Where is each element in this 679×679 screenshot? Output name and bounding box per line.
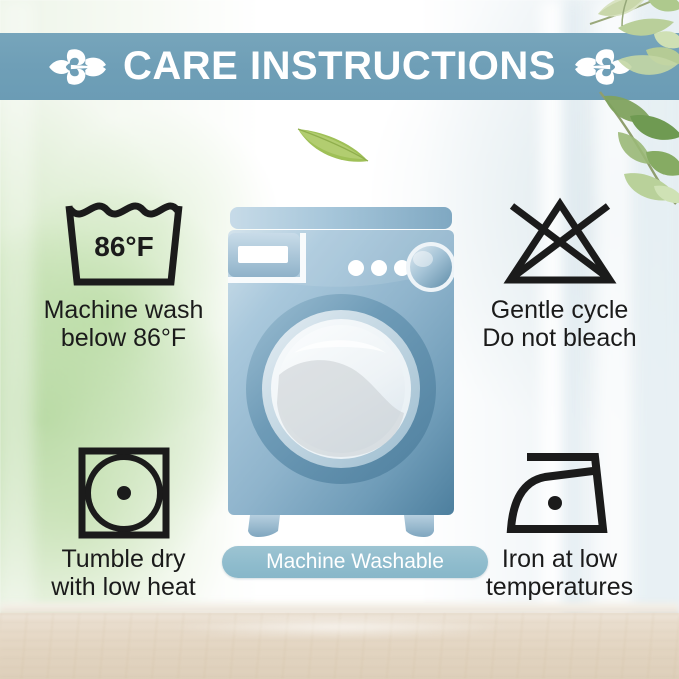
washer-top-panel (230, 207, 452, 229)
triangle-crossed-out-icon-wrap (452, 196, 667, 292)
triangle-crossed-out-icon (502, 196, 618, 292)
wash-tub-temperature-label: 86°F (94, 231, 153, 262)
fleur-de-lis-left-icon (45, 42, 107, 92)
care-instructions-infographic: CARE INSTRUCTIONS (0, 0, 679, 679)
control-knob-highlight (413, 251, 433, 267)
tumble-dry-heat-dot (117, 486, 131, 500)
wash-tub-icon: 86°F (61, 196, 187, 292)
control-knob (410, 246, 452, 288)
care-symbol-machine-wash: 86°F Machine wash below 86°F (16, 196, 231, 352)
floating-leaf-icon (294, 121, 372, 165)
iron-heat-dot (548, 496, 562, 510)
header-banner: CARE INSTRUCTIONS (0, 33, 679, 100)
care-symbol-no-bleach-label: Gentle cycle Do not bleach (452, 296, 667, 352)
washing-machine-illustration (228, 207, 454, 537)
iron-icon-wrap (452, 445, 667, 541)
tumble-dry-square-icon-wrap (16, 445, 231, 541)
washer-foot-right (404, 515, 434, 537)
washer-foot-left (248, 515, 280, 537)
indicator-light-1 (348, 260, 364, 276)
table-highlight (163, 617, 516, 637)
page-title: CARE INSTRUCTIONS (123, 44, 556, 89)
tumble-dry-square-icon (76, 445, 172, 541)
care-symbol-no-bleach: Gentle cycle Do not bleach (452, 196, 667, 352)
detergent-drawer-slot (238, 246, 288, 263)
care-symbol-tumble-dry: Tumble dry with low heat (16, 445, 231, 601)
care-symbol-iron: Iron at low temperatures (452, 445, 667, 601)
table-surface (0, 613, 679, 679)
leaf-branch-bottom-icon (594, 86, 679, 206)
table-edge (0, 599, 679, 613)
care-symbol-tumble-dry-label: Tumble dry with low heat (16, 545, 231, 601)
care-symbol-machine-wash-label: Machine wash below 86°F (16, 296, 231, 352)
iron-icon (501, 445, 619, 541)
wash-tub-icon-wrap: 86°F (16, 196, 231, 292)
machine-washable-badge-label: Machine Washable (266, 550, 444, 574)
machine-washable-badge: Machine Washable (222, 546, 488, 578)
indicator-light-2 (371, 260, 387, 276)
